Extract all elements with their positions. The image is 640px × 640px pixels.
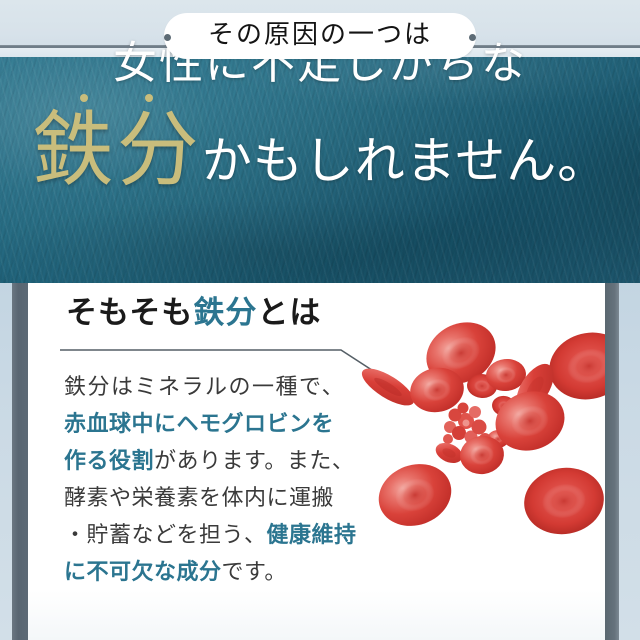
- badge-dot-left: [164, 34, 171, 41]
- emphasis-dots: [32, 94, 202, 102]
- hero-headline-tail: かもしれません。: [202, 136, 609, 190]
- emphasis-dot: [145, 94, 153, 102]
- hero-keyword-label: 鉄分: [32, 105, 202, 196]
- badge-dot-right: [469, 34, 476, 41]
- hero-keyword-iron: 鉄分: [32, 110, 202, 190]
- badge-pill: その原因の一つは: [164, 13, 476, 59]
- hero-headline-line2: 鉄分 かもしれません。: [0, 110, 640, 190]
- badge-label: その原因の一つは: [208, 22, 432, 48]
- emphasis-dot: [80, 94, 88, 102]
- advertisement-canvas: 女性に不足しがちな 鉄分 かもしれません。 その原因の一つは そもそも鉄分とは …: [0, 0, 640, 640]
- hero-text-layer: 女性に不足しがちな 鉄分 かもしれません。: [0, 0, 640, 640]
